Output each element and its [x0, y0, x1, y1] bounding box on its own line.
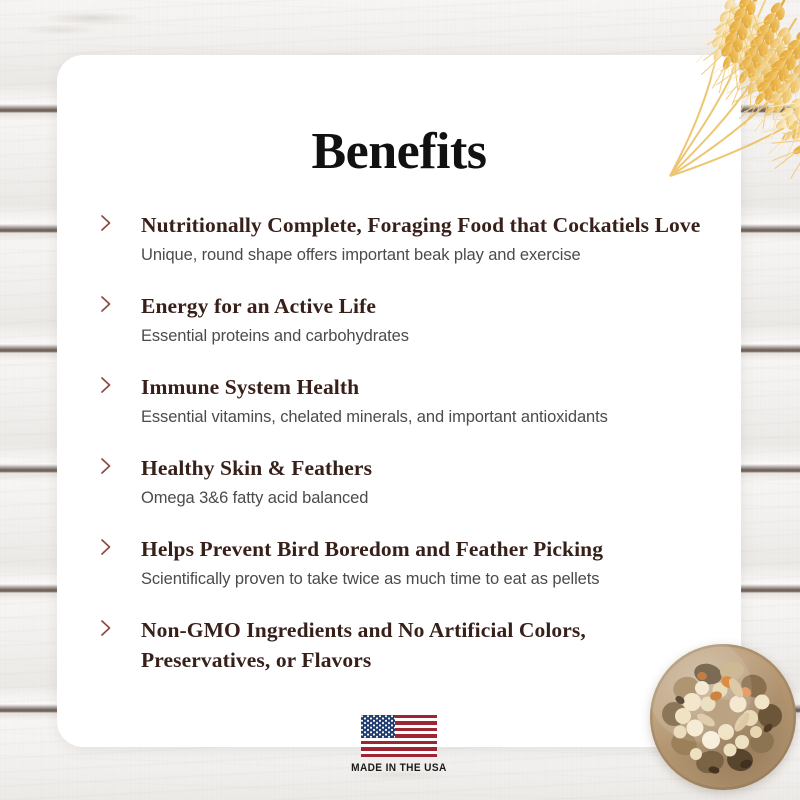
list-item: Nutritionally Complete, Foraging Food th… — [97, 210, 723, 268]
benefit-subtitle: Essential proteins and carbohydrates — [141, 324, 723, 349]
benefit-title: Energy for an Active Life — [141, 291, 723, 321]
benefit-title: Immune System Health — [141, 372, 723, 402]
benefit-subtitle: Omega 3&6 fatty acid balanced — [141, 486, 723, 511]
chevron-right-icon — [99, 537, 113, 557]
chevron-right-icon — [99, 213, 113, 233]
list-item: Non-GMO Ingredients and No Artificial Co… — [97, 615, 723, 675]
foraging-seed-ball-image — [650, 644, 796, 790]
benefit-title: Nutritionally Complete, Foraging Food th… — [141, 210, 723, 240]
made-in-usa-caption: MADE IN THE USA — [351, 762, 446, 774]
chevron-right-icon — [99, 375, 113, 395]
list-item: Immune System Health Essential vitamins,… — [97, 372, 723, 430]
flag-canton — [361, 715, 395, 738]
chevron-right-icon — [99, 456, 113, 476]
benefits-list: Nutritionally Complete, Foraging Food th… — [97, 210, 723, 685]
list-item: Energy for an Active Life Essential prot… — [97, 291, 723, 349]
made-in-usa-badge: MADE IN THE USA — [57, 715, 741, 774]
page-title: Benefits — [57, 122, 741, 181]
flag-stars — [361, 715, 395, 738]
benefit-subtitle: Essential vitamins, chelated minerals, a… — [141, 405, 723, 430]
benefit-title: Helps Prevent Bird Boredom and Feather P… — [141, 534, 723, 564]
benefit-subtitle: Unique, round shape offers important bea… — [141, 243, 723, 268]
list-item: Helps Prevent Bird Boredom and Feather P… — [97, 534, 723, 592]
benefit-title: Healthy Skin & Feathers — [141, 453, 723, 483]
chevron-right-icon — [99, 294, 113, 314]
list-item: Healthy Skin & Feathers Omega 3&6 fatty … — [97, 453, 723, 511]
chevron-right-icon — [99, 618, 113, 638]
benefit-title: Non-GMO Ingredients and No Artificial Co… — [141, 615, 611, 675]
usa-flag-icon — [361, 715, 437, 757]
benefit-subtitle: Scientifically proven to take twice as m… — [141, 567, 723, 592]
benefits-card: Benefits Nutritionally Complete, Foragin… — [57, 55, 741, 747]
